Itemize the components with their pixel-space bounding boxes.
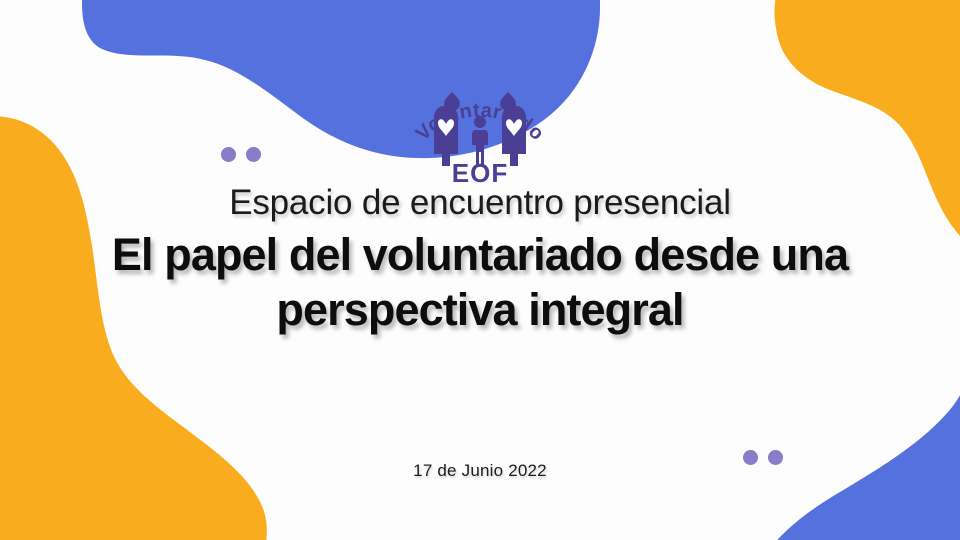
decorative-dot: [221, 147, 236, 162]
adult-figure-right-icon: [502, 106, 526, 166]
slide-date: 17 de Junio 2022: [0, 461, 960, 481]
slide-subtitle: Espacio de encuentro presencial: [90, 183, 870, 222]
voluntariado-eof-logo: Voluntariado EOF: [398, 66, 562, 184]
decorative-dot: [246, 147, 261, 162]
dots-top-left: [221, 147, 261, 162]
adult-figure-left-icon: [434, 106, 458, 166]
head-left-icon: [444, 92, 460, 111]
slide-title: El papel del voluntariado desde una pers…: [90, 228, 870, 338]
logo-acronym: EOF: [452, 158, 508, 184]
head-right-icon: [500, 92, 516, 111]
slide-text-block: Espacio de encuentro presencial El papel…: [0, 183, 960, 338]
title-slide: Voluntariado EOF: [0, 0, 960, 540]
